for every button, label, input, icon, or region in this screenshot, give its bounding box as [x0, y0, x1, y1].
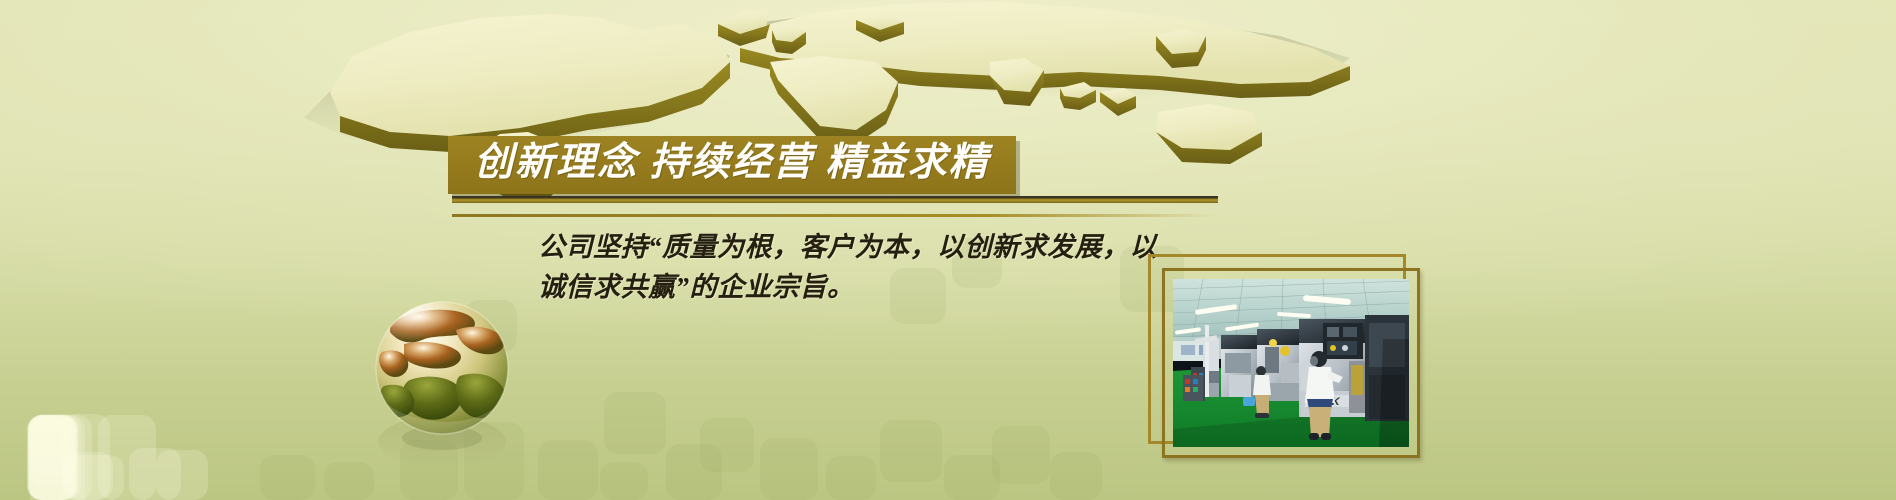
decor-square: [538, 440, 598, 500]
decor-square: [29, 415, 92, 500]
subtitle-text: 公司坚持“质量为根，客户为本，以创新求发展，以诚信求共赢”的企业宗旨。: [538, 228, 1178, 308]
decor-square: [28, 416, 76, 500]
decor-square: [992, 426, 1050, 484]
decor-square: [29, 414, 81, 500]
decor-square: [62, 455, 124, 500]
decor-square: [604, 392, 666, 454]
decor-square: [826, 456, 876, 500]
decor-square: [129, 448, 181, 500]
decor-square: [28, 415, 68, 455]
workshop-photo: odicK: [1173, 279, 1409, 447]
decor-square: [666, 444, 722, 500]
decor-square: [260, 455, 315, 500]
decor-square: [28, 415, 78, 475]
decor-square: [28, 415, 75, 500]
decor-square: [28, 415, 78, 500]
decor-square: [30, 415, 76, 485]
decor-square: [27, 416, 73, 500]
decor-square: [29, 415, 78, 500]
headline-underline-secondary: [452, 214, 1218, 217]
headline-text: 创新理念 持续经营 精益求精: [474, 141, 990, 185]
decor-square: [98, 415, 156, 500]
headline-underline: [452, 196, 1218, 203]
globe-3d-graphic: [360, 290, 540, 485]
decor-square: [880, 420, 942, 482]
decor-square: [700, 418, 754, 472]
decor-square: [1050, 452, 1102, 500]
workshop-photo-module: odicK: [1148, 254, 1448, 474]
decor-square: [62, 414, 110, 500]
company-banner: 创新理念 持续经营 精益求精 公司坚持“质量为根，客户为本，以创新求发展，以诚信…: [0, 0, 1896, 500]
decor-square: [760, 438, 818, 500]
decor-square: [27, 415, 77, 500]
decor-square: [156, 450, 208, 500]
decor-square: [28, 417, 76, 500]
decor-square: [30, 415, 85, 500]
decor-square: [600, 462, 648, 500]
headline-plate: 创新理念 持续经营 精益求精: [448, 136, 1016, 194]
decor-square: [944, 455, 1000, 500]
decor-square: [66, 452, 113, 500]
